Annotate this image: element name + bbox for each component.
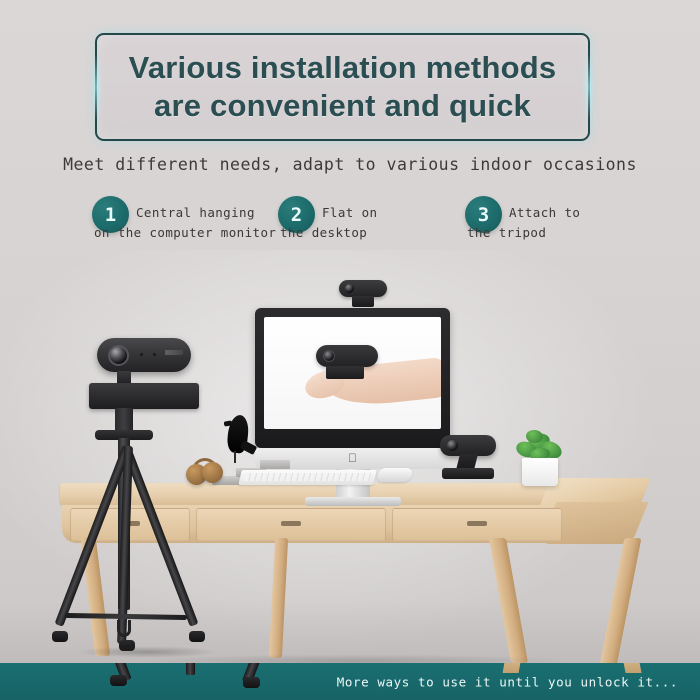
monitor-base	[305, 497, 401, 506]
camera-lens-icon	[447, 440, 458, 451]
tripod-with-webcam	[55, 338, 235, 680]
banner-foreground-overlap	[0, 663, 700, 700]
drawer-notch-icon	[467, 521, 487, 526]
title-line-1: Various installation methods	[129, 49, 557, 87]
desk-drawer-3	[392, 508, 562, 541]
step-label-3: Attach to the tripod	[509, 200, 580, 226]
tripod-ground-shadow	[49, 644, 245, 660]
webcam-on-desktop	[440, 435, 496, 485]
step-label-3-line1: Attach to	[509, 205, 580, 220]
tripod-brace	[65, 613, 187, 620]
step-label-1: Central hanging on the computer monitor	[136, 200, 255, 226]
webcam-body	[339, 280, 387, 297]
product-infographic-page: Various installation methods are conveni…	[0, 0, 700, 700]
webcam-on-tripod	[97, 338, 191, 382]
shelf-step	[260, 460, 290, 469]
webcam-on-screen-mount	[326, 366, 364, 379]
step-label-2-line1: Flat on	[322, 205, 377, 220]
step-label-1-line2: on the computer monitor	[94, 220, 276, 246]
camera-lens-icon	[108, 345, 129, 366]
webcam-base	[442, 468, 494, 479]
tripod-foot	[52, 631, 68, 642]
webcam-on-monitor	[339, 280, 387, 310]
camera-lens-icon	[345, 284, 354, 293]
desk-leg-overlap	[503, 663, 522, 673]
desk-leg-front-right	[489, 538, 528, 663]
tripod-hook-icon	[117, 620, 131, 637]
camera-lens-icon	[323, 350, 335, 362]
tripod-foot-overlap	[243, 677, 260, 688]
step-label-1-line1: Central hanging	[136, 205, 255, 220]
apple-logo-icon: 	[348, 452, 358, 464]
mouse	[376, 468, 413, 482]
desk-leg-back-left	[269, 538, 288, 658]
tripod-foot-overlap	[110, 675, 127, 686]
tripod-leg-overlap	[186, 663, 195, 675]
webcam-body	[97, 338, 191, 372]
bird-tail	[240, 440, 257, 455]
microphone-hole-icon	[153, 353, 156, 356]
title-box: Various installation methods are conveni…	[95, 33, 590, 141]
desk-leg-overlap	[622, 663, 641, 673]
step-label-2: Flat on the desktop	[322, 200, 377, 226]
drawer-notch-icon	[281, 521, 301, 526]
webcam-on-screen-image	[316, 345, 378, 367]
monitor-screen	[264, 317, 441, 429]
webcam-body	[440, 435, 496, 456]
tripod-leg-left	[121, 444, 198, 626]
page-subtitle: Meet different needs, adapt to various i…	[0, 155, 700, 174]
desk-leg-back-right	[600, 538, 642, 666]
title-line-2: are convenient and quick	[154, 87, 531, 125]
product-scene: 	[0, 280, 700, 700]
webcam-clip-mount	[352, 296, 374, 307]
step-label-3-line2: the tripod	[467, 220, 546, 246]
potted-plant	[512, 430, 568, 486]
imac-monitor: 	[255, 308, 450, 483]
page-title: Various installation methods are conveni…	[97, 35, 588, 139]
webcam-brand-mark	[165, 350, 183, 355]
keyboard	[238, 470, 376, 485]
microphone-hole-icon	[140, 353, 143, 356]
plant-pot	[522, 458, 558, 486]
step-label-2-line2: the desktop	[280, 220, 367, 246]
tripod-foot	[189, 631, 205, 642]
tripod-quick-release-plate	[89, 383, 199, 409]
steps-list: 1 Central hanging on the computer monito…	[0, 196, 700, 276]
